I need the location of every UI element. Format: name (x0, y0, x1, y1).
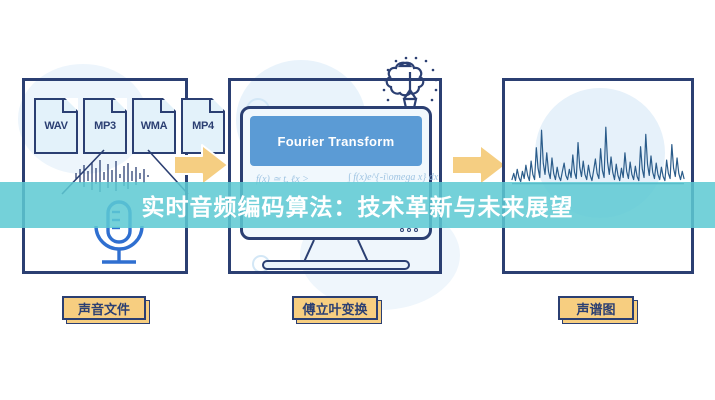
tag-label: 傅立叶变换 (302, 299, 367, 318)
tag-audio-files[interactable]: 声音文件 (62, 296, 146, 320)
file-label: WMA (134, 120, 174, 132)
file-label: WAV (36, 120, 76, 132)
page-fold-line-icon (206, 99, 224, 117)
tag-label: 声音文件 (78, 299, 130, 318)
screen-label: Fourier Transform (277, 134, 394, 149)
panel-spectrogram (502, 78, 694, 274)
monitor-screen: Fourier Transform (250, 116, 422, 166)
file-icon-wav[interactable]: WAV (34, 98, 78, 154)
file-label: MP3 (85, 120, 125, 132)
tag-fourier-transform[interactable]: 傅立叶变换 (292, 296, 378, 320)
monitor-indicator-dots (400, 228, 418, 232)
title-band: 实时音频编码算法：技术革新与未来展望 (0, 182, 715, 228)
page-title: 实时音频编码算法：技术革新与未来展望 (142, 188, 574, 222)
infographic-canvas: WAV MP3 WMA MP4 (0, 0, 715, 400)
file-label: MP4 (183, 120, 223, 132)
file-icon-mp3[interactable]: MP3 (83, 98, 127, 154)
tag-label: 声谱图 (576, 299, 615, 318)
file-icon-mp4[interactable]: MP4 (181, 98, 225, 154)
page-fold-line-icon (108, 99, 126, 117)
tag-spectrogram[interactable]: 声谱图 (558, 296, 634, 320)
page-fold-line-icon (157, 99, 175, 117)
file-icon-wma[interactable]: WMA (132, 98, 176, 154)
page-fold-line-icon (59, 99, 77, 117)
monitor-stand-base (262, 260, 410, 270)
arrow-transform-to-spectrogram (450, 143, 510, 187)
